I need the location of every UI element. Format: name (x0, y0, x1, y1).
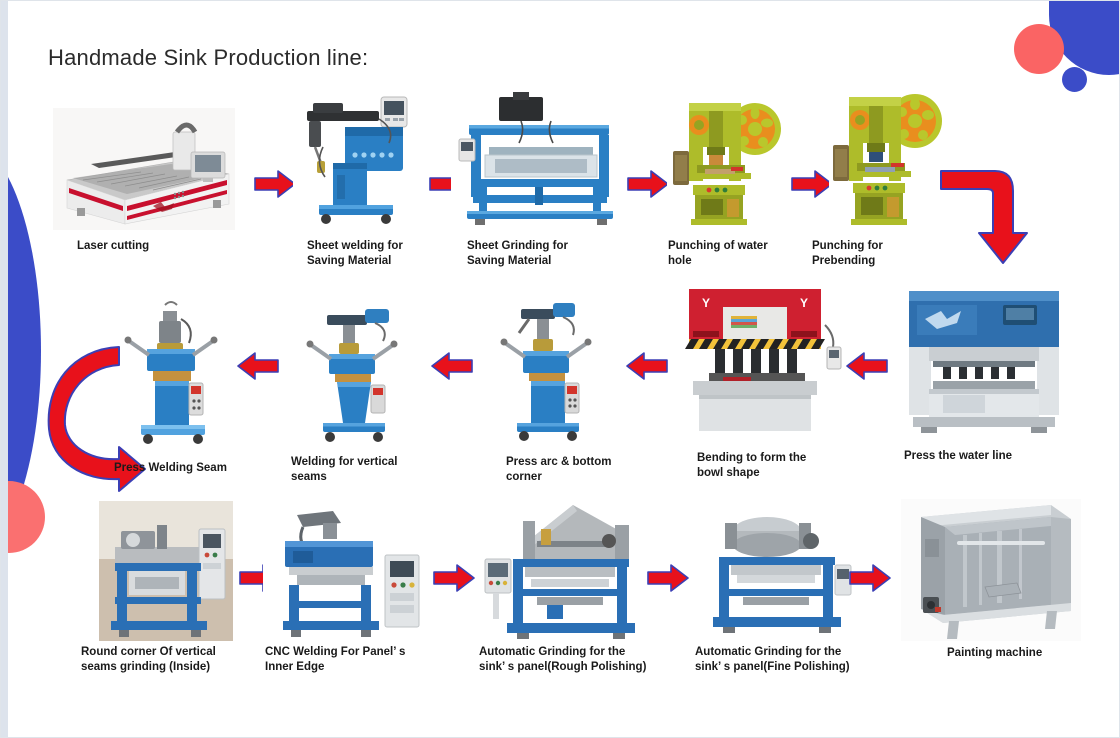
sheet-grinding-machine (451, 91, 631, 231)
auto-grinder-rough-machine (477, 501, 641, 641)
seam-welder-machine (301, 301, 421, 449)
arrow-right-icon (647, 563, 689, 593)
step-label-auto-grind-rough: Automatic Grinding for the sink’ s panel… (479, 645, 679, 675)
step-press-arc-bottom (493, 297, 613, 447)
step-press-water-line (899, 285, 1069, 437)
arrow-right-icon (849, 563, 891, 593)
step-label-welding-vertical: Welding for vertical seams (291, 455, 461, 485)
arrow-right-icon (627, 169, 669, 199)
arrow-right-icon (791, 169, 833, 199)
sheet-welding-machine (293, 89, 423, 231)
step-welding-vertical (301, 301, 421, 449)
step-auto-grind-fine (695, 505, 853, 641)
production-line-page: Handmade Sink Production line: (0, 0, 1120, 738)
step-label-bending-bowl-shape: Bending to form the bowl shape (697, 451, 857, 481)
step-bending-bowl-shape: Y Y (685, 285, 825, 441)
step-punching-prebending (829, 87, 949, 231)
step-label-press-arc-bottom: Press arc & bottom corner (506, 455, 666, 485)
punch-press-machine (667, 89, 785, 231)
step-label-press-welding-seam: Press Welding Seam (114, 461, 284, 476)
arrow-left-icon (846, 351, 888, 381)
arrow-elbow-down-icon (937, 161, 1037, 271)
step-painting-machine (901, 499, 1081, 641)
painting-booth-machine (901, 499, 1081, 641)
auto-grinder-fine-machine (695, 505, 853, 641)
control-pendant (821, 323, 847, 383)
press-brake-red-machine: Y Y (685, 285, 825, 441)
step-label-punching-prebending: Punching for Prebending (812, 239, 952, 269)
corner-grinder-machine (99, 501, 233, 641)
step-label-cnc-welding-inner: CNC Welding For Panel’ s Inner Edge (265, 645, 450, 675)
step-label-sheet-welding: Sheet welding for Saving Material (307, 239, 467, 269)
step-punching-water-hole (667, 89, 785, 231)
step-label-press-water-line: Press the water line (904, 449, 1064, 464)
step-label-laser-cutting: Laser cutting (77, 239, 227, 254)
decorative-blue-blob (1049, 0, 1120, 75)
decorative-left-bar (1, 1, 8, 738)
step-label-painting-machine: Painting machine (947, 646, 1117, 661)
seam-welder-machine (493, 297, 613, 447)
decorative-red-circle (1014, 24, 1064, 74)
step-sheet-welding (293, 89, 423, 231)
step-label-sheet-grinding: Sheet Grinding for Saving Material (467, 239, 627, 269)
step-auto-grind-rough (477, 501, 641, 641)
step-round-corner-grinding (99, 501, 233, 641)
step-label-round-corner-grinding: Round corner Of vertical seams grinding … (81, 645, 266, 675)
arrow-right-icon (254, 169, 296, 199)
laser-cutting-machine (53, 108, 235, 230)
page-title: Handmade Sink Production line: (48, 45, 368, 71)
decorative-blue-dot (1062, 67, 1087, 92)
cnc-welder-machine (263, 507, 427, 641)
svg-text:Y: Y (800, 296, 808, 310)
svg-text:Y: Y (702, 296, 710, 310)
arrow-right-icon (433, 563, 475, 593)
step-sheet-grinding (451, 91, 631, 231)
arrow-left-icon (626, 351, 668, 381)
step-laser-cutting (53, 108, 235, 230)
step-label-auto-grind-fine: Automatic Grinding for the sink’ s panel… (695, 645, 895, 675)
step-label-punching-water-hole: Punching of water hole (668, 239, 808, 269)
arrow-left-icon (431, 351, 473, 381)
punch-press-machine (829, 87, 949, 231)
press-brake-blue-machine (899, 285, 1069, 437)
step-cnc-welding-inner (263, 507, 427, 641)
arrow-left-icon (237, 351, 279, 381)
